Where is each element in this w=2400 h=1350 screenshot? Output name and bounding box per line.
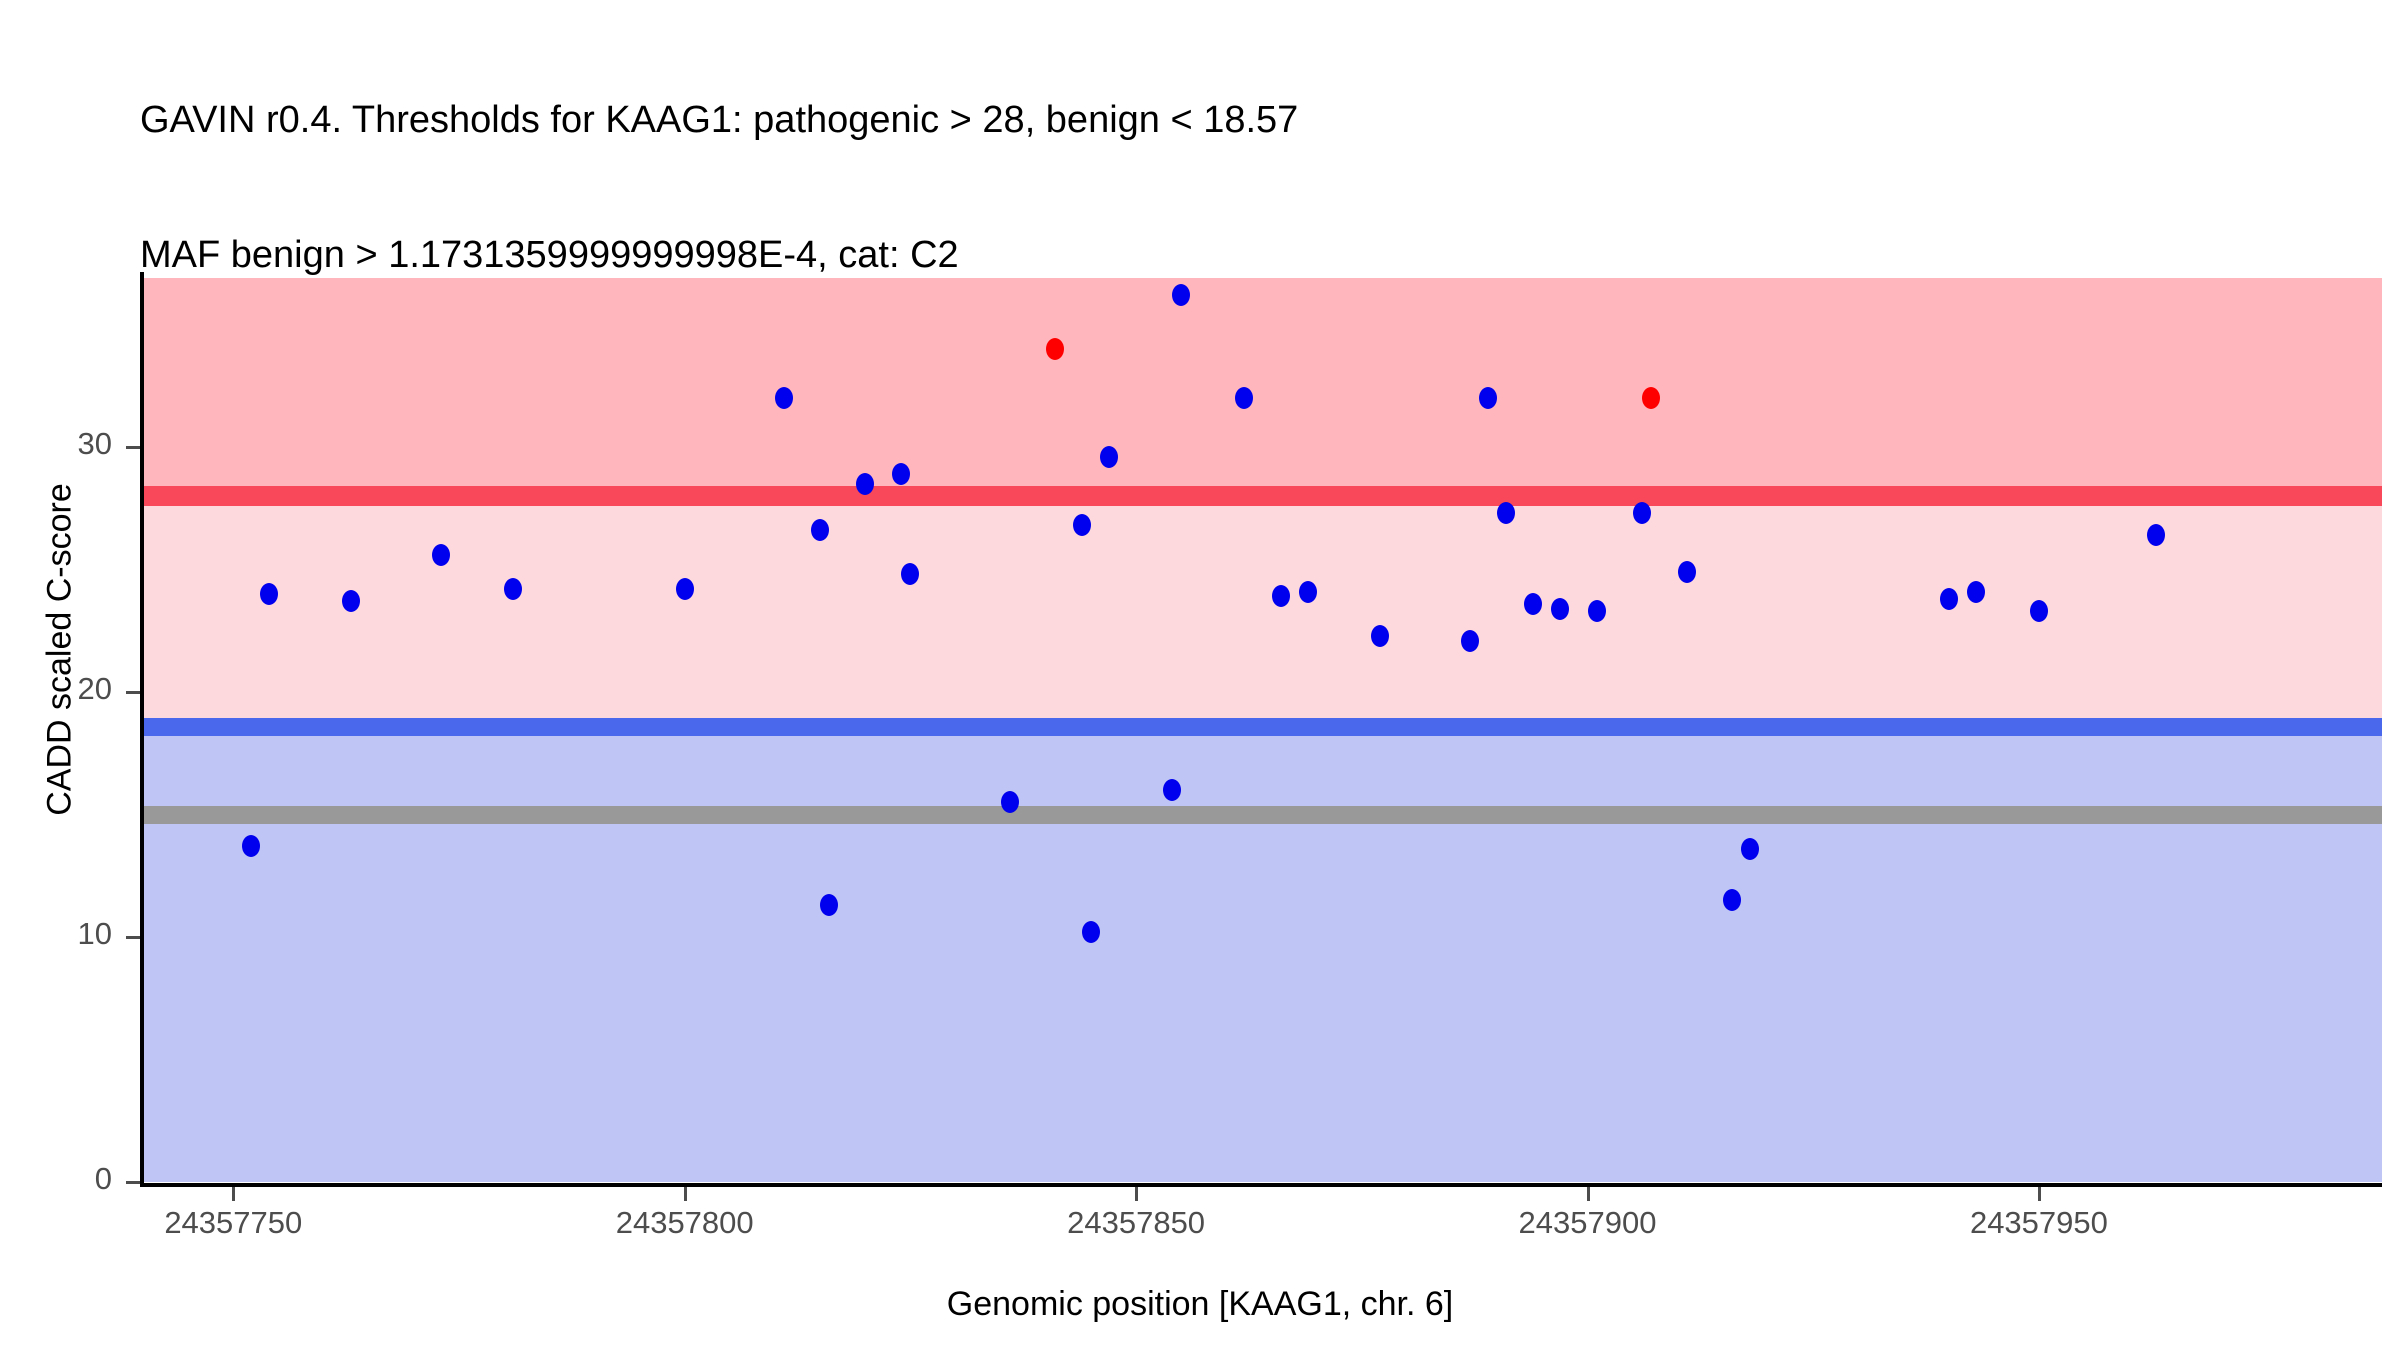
data-point[interactable] (1371, 625, 1389, 647)
data-point[interactable] (432, 544, 450, 566)
x-tick (1587, 1187, 1590, 1201)
benign-threshold-line (143, 718, 2382, 736)
y-axis-title: CADD scaled C-score (41, 440, 80, 860)
data-point[interactable] (1001, 791, 1019, 813)
x-tick (1135, 1187, 1138, 1201)
x-axis-line (140, 1183, 2382, 1187)
x-axis-title: Genomic position [KAAG1, chr. 6] (0, 1285, 2400, 1324)
y-tick-label: 10 (0, 916, 112, 952)
y-tick (126, 446, 140, 449)
data-point[interactable] (342, 590, 360, 612)
band-pathogenic (143, 278, 2382, 489)
data-point[interactable] (676, 578, 694, 600)
x-tick-label: 24357850 (1006, 1205, 1266, 1241)
data-point[interactable] (1082, 921, 1100, 943)
data-point[interactable] (1741, 838, 1759, 860)
data-point[interactable] (1633, 502, 1651, 524)
data-point[interactable] (1940, 588, 1958, 610)
x-tick-label: 24357750 (103, 1205, 363, 1241)
y-axis-line (140, 272, 144, 1187)
x-tick (2038, 1187, 2041, 1201)
pathogenic-threshold-line (143, 486, 2382, 506)
fallback-threshold-line (143, 806, 2382, 824)
data-point[interactable] (1046, 338, 1064, 360)
title-line-2: MAF benign > 1.1731359999999998E-4, cat:… (140, 233, 2340, 278)
plot-panel (143, 278, 2382, 1182)
y-tick (126, 936, 140, 939)
x-tick-label: 24357900 (1458, 1205, 1718, 1241)
x-tick-label: 24357950 (1909, 1205, 2169, 1241)
data-point[interactable] (1461, 630, 1479, 652)
y-tick-label: 0 (0, 1161, 112, 1197)
x-tick (684, 1187, 687, 1201)
data-point[interactable] (1100, 446, 1118, 468)
data-point[interactable] (1967, 581, 1985, 603)
x-tick-label: 24357800 (555, 1205, 815, 1241)
data-point[interactable] (1272, 585, 1290, 607)
x-tick (232, 1187, 235, 1201)
y-tick (126, 691, 140, 694)
title-line-1: GAVIN r0.4. Thresholds for KAAG1: pathog… (140, 98, 2340, 143)
data-point[interactable] (775, 387, 793, 409)
chart-root: GAVIN r0.4. Thresholds for KAAG1: pathog… (0, 0, 2400, 1350)
band-benign (143, 734, 2382, 1182)
y-tick (126, 1181, 140, 1184)
data-point[interactable] (856, 473, 874, 495)
data-point[interactable] (1588, 600, 1606, 622)
data-point[interactable] (2030, 600, 2048, 622)
data-point[interactable] (1642, 387, 1660, 409)
data-point[interactable] (1678, 561, 1696, 583)
data-point[interactable] (1299, 581, 1317, 603)
